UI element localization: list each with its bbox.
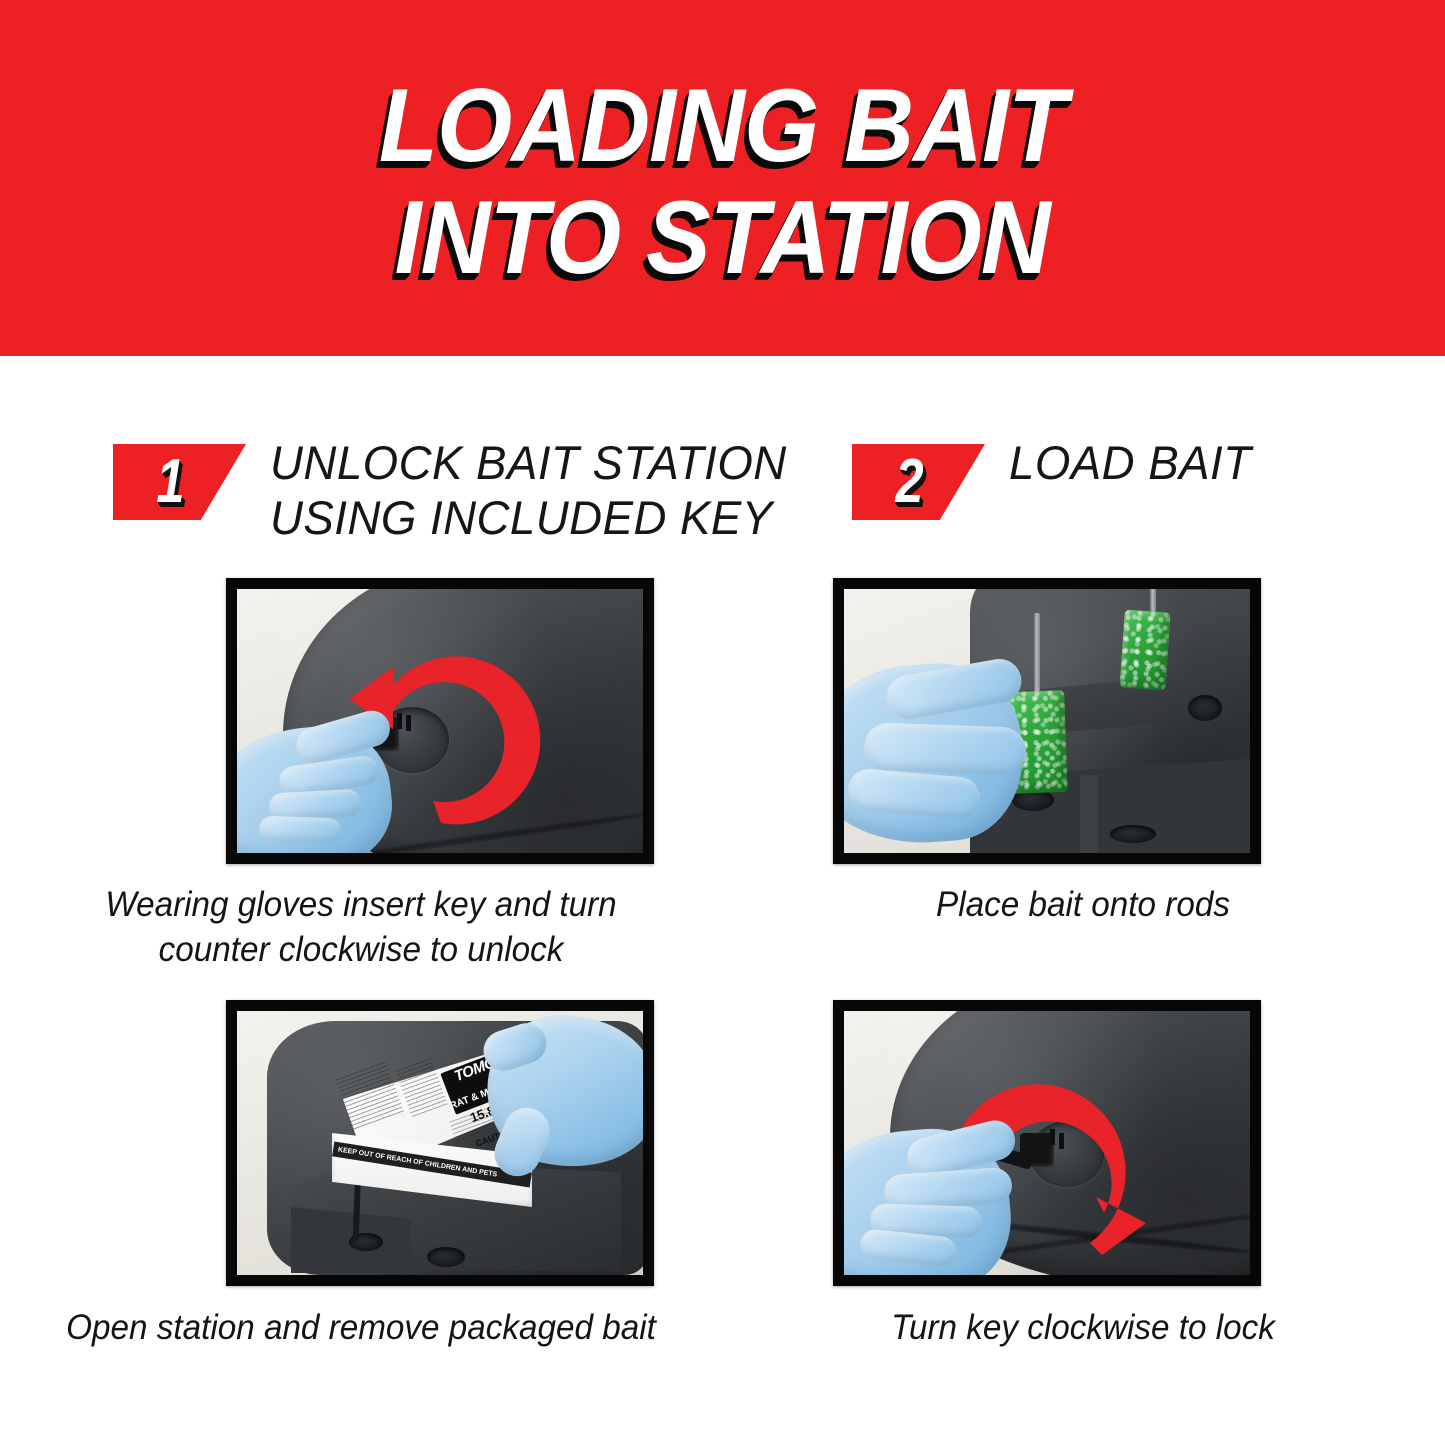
step-1-header: 1 UNLOCK BAIT STATION USING INCLUDED KEY: [0, 434, 835, 554]
photo-remove-carton: TOMCAT RAT & MOUSE KILLER 15.87 oz CAUTI…: [237, 1011, 643, 1275]
step-2-heading: LOAD BAIT: [1009, 434, 1252, 491]
step-1-badge: 1: [113, 444, 246, 520]
bait-block: [1119, 609, 1170, 690]
step-2-badge: 2: [852, 444, 985, 520]
step-1-photo-2-frame: TOMCAT RAT & MOUSE KILLER 15.87 oz CAUTI…: [226, 1000, 654, 1286]
step-1-photo-1-frame: [226, 578, 654, 864]
step-2-photo-1-caption: Place bait onto rods: [740, 883, 1426, 928]
step-column-2: 2 LOAD BAIT: [722, 356, 1444, 1445]
step-2-photo-2-frame: [833, 1000, 1261, 1286]
title-line-2: INTO STATION: [395, 185, 1050, 291]
header-banner: LOADING BAIT INTO STATION: [0, 0, 1445, 356]
step-1-photo-2-caption: Open station and remove packaged bait: [18, 1306, 704, 1351]
step-2-number: 2: [864, 444, 973, 520]
step-2-photo-2-caption: Turn key clockwise to lock: [740, 1306, 1426, 1351]
title-line-1: LOADING BAIT: [379, 73, 1066, 179]
steps-content: 1 UNLOCK BAIT STATION USING INCLUDED KEY: [0, 356, 1445, 1445]
step-2-header: 2 LOAD BAIT: [722, 434, 1445, 554]
step-1-heading: UNLOCK BAIT STATION USING INCLUDED KEY: [270, 434, 787, 546]
step-1-number: 1: [125, 444, 234, 520]
step-column-1: 1 UNLOCK BAIT STATION USING INCLUDED KEY: [0, 356, 722, 1445]
step-1-photo-1-caption: Wearing gloves insert key and turn count…: [18, 883, 704, 973]
photo-lock-key: [844, 1011, 1250, 1275]
step-2-photo-1-frame: [833, 578, 1261, 864]
photo-unlock-key: [237, 589, 643, 853]
photo-place-bait: [844, 589, 1250, 853]
banner-title-group: LOADING BAIT INTO STATION: [0, 0, 1445, 356]
